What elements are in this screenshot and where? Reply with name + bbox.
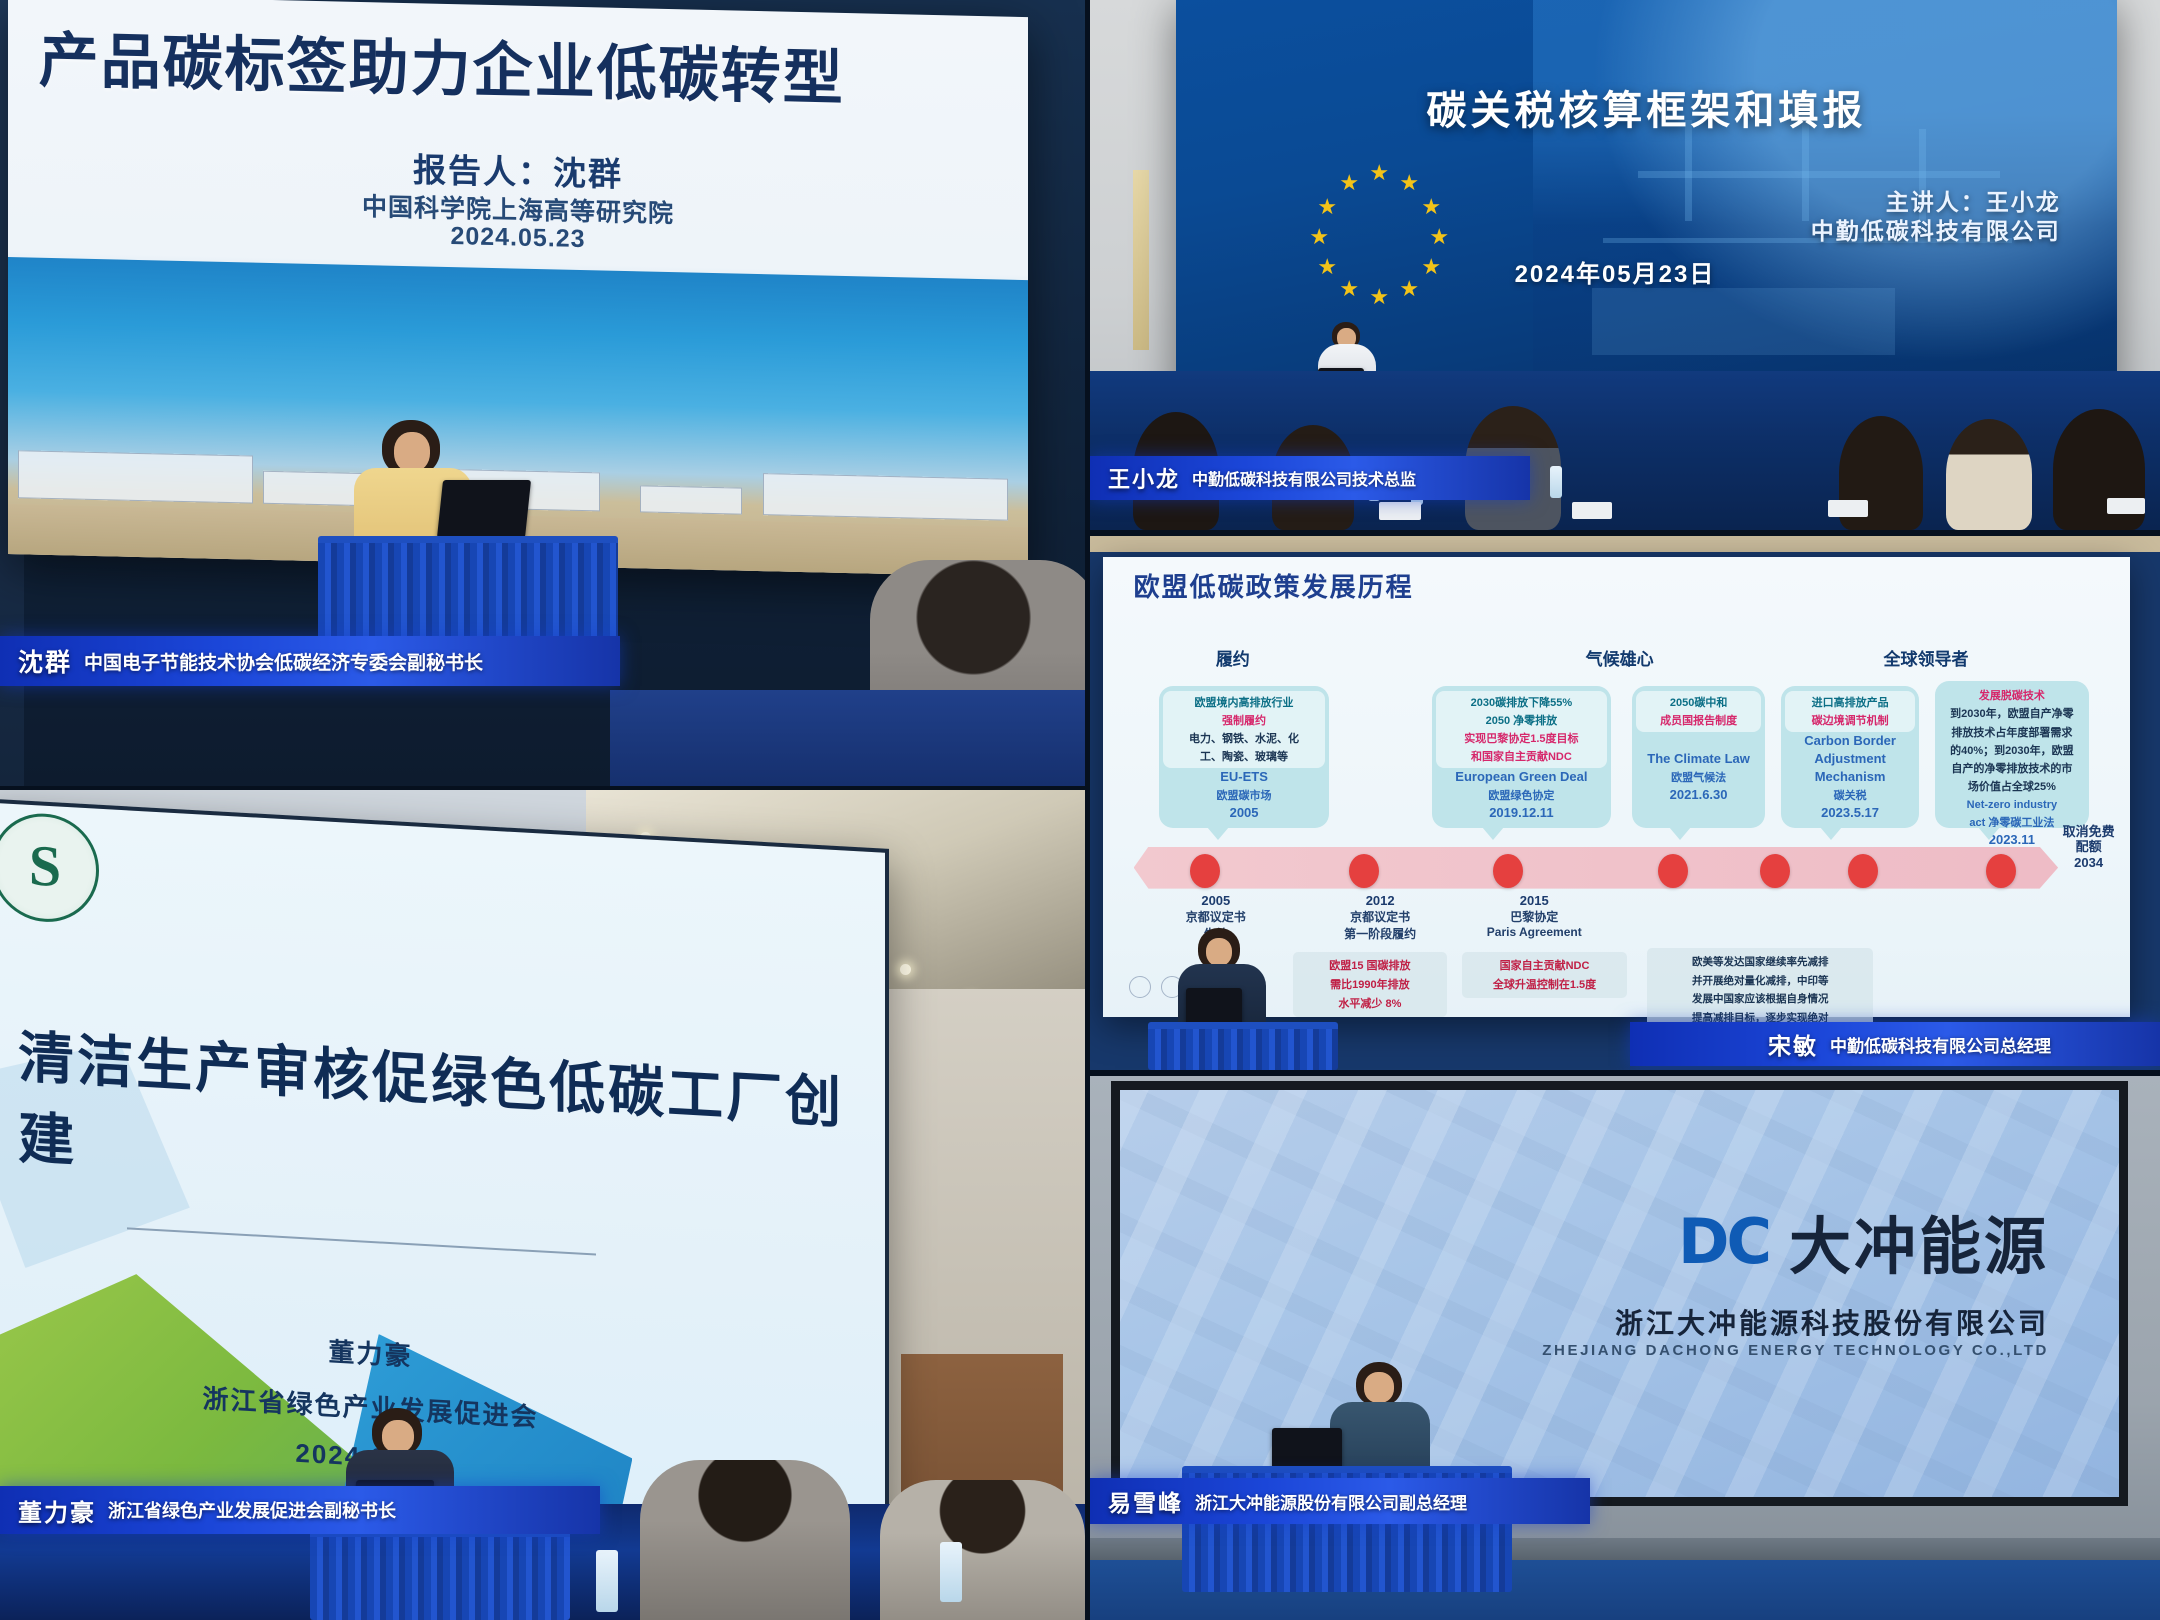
- slide-title: 欧盟低碳政策发展历程: [1134, 567, 1414, 604]
- campus-building: [763, 473, 1008, 520]
- speaker-table: [1148, 1022, 1338, 1070]
- policy-bubble-green-deal: 2030碳排放下降55% 2050 净零排放 实现巴黎协定1.5度目标 和国家自…: [1432, 686, 1612, 828]
- campus-building: [18, 450, 253, 503]
- timeline-note-2: 国家自主贡献NDC 全球升温控制在1.5度: [1462, 952, 1626, 998]
- timeline-dot: [1493, 854, 1523, 888]
- slide-title: 碳关税核算框架和填报: [1176, 78, 2118, 136]
- company-name-en: ZHEJIANG DACHONG ENERGY TECHNOLOGY CO.,L…: [1542, 1342, 2049, 1359]
- group-label-1: 履约: [1216, 645, 1250, 670]
- caption-speaker-name: 沈群: [18, 643, 72, 679]
- timeline-right-note: 取消免费 配额 2034: [2063, 824, 2115, 871]
- policy-bubble-eu-ets: 欧盟境内高排放行业 强制履约 电力、钢铁、水泥、化 工、陶瓷、玻璃等 EU-ET…: [1159, 686, 1328, 828]
- logo-mark-dc: DC: [1678, 1205, 1769, 1278]
- company-logo: DC 大冲能源: [1678, 1196, 2049, 1286]
- caption-bar-panel3: 宋敏 中勤低碳科技有限公司总经理: [1630, 1022, 2160, 1066]
- timeline-year-2015: 2015 巴黎协定 Paris Agreement: [1452, 893, 1616, 939]
- audience-desk: [610, 690, 1085, 786]
- policy-bubble-climate-law: 2050碳中和 成员国报告制度 The Climate Law 欧盟气候法 20…: [1632, 686, 1766, 828]
- policy-bubble-cbam: 进口高排放产品 碳边境调节机制 Carbon Border Adjustment…: [1781, 686, 1920, 828]
- audience-row: [1090, 371, 2160, 530]
- prev-icon[interactable]: [1129, 976, 1151, 998]
- caption-speaker-name: 易雪峰: [1108, 1484, 1183, 1518]
- wall-stripe: [1133, 170, 1149, 350]
- caption-speaker-name: 王小龙: [1108, 462, 1180, 494]
- timeline-dot: [1848, 854, 1878, 888]
- slide-divider: [127, 1228, 597, 1256]
- caption-bar-panel1: 沈群 中国电子节能技术协会低碳经济专委会副秘书长: [0, 636, 620, 686]
- timeline-dot: [1986, 854, 2016, 888]
- timeline-note-1: 欧盟15 国碳排放 需比1990年排放 水平减少 8%: [1293, 952, 1447, 1017]
- caption-speaker-role: 中国电子节能技术协会低碳经济专委会副秘书长: [84, 648, 483, 675]
- speaker-table: [310, 1530, 570, 1620]
- slide-date: 2024年05月23日: [1515, 254, 1716, 289]
- group-label-3: 全球领导者: [1883, 645, 1968, 670]
- audience-member-foreground: [880, 1480, 1085, 1620]
- caption-speaker-role: 浙江省绿色产业发展促进会副秘书长: [108, 1497, 396, 1523]
- timeline-year-2012: 2012 京都议定书 第一阶段履约: [1298, 893, 1462, 942]
- caption-bar-panel5: 易雪峰 浙江大冲能源股份有限公司副总经理: [1090, 1478, 1590, 1524]
- campus-building: [640, 485, 742, 514]
- caption-speaker-role: 中勤低碳科技有限公司总经理: [1830, 1032, 2051, 1057]
- timeline-dot: [1658, 854, 1688, 888]
- timeline-dot: [1190, 854, 1220, 888]
- water-bottle: [596, 1550, 618, 1612]
- panel-eu-policy-timeline: 欧盟低碳政策发展历程 履约 气候雄心 全球领导者 欧盟境内高排放行业 强制履约 …: [1090, 536, 2160, 1070]
- audience-member-foreground: [640, 1460, 850, 1620]
- association-logo: S: [0, 811, 99, 925]
- caption-speaker-name: 董力豪: [18, 1493, 96, 1528]
- caption-speaker-role: 浙江大冲能源股份有限公司副总经理: [1195, 1489, 1467, 1514]
- caption-bar-panel4: 董力豪 浙江省绿色产业发展促进会副秘书长: [0, 1486, 600, 1534]
- slide-company: 中勤低碳科技有限公司: [1811, 212, 2061, 246]
- company-name-cn: 浙江大冲能源科技股份有限公司: [1615, 1302, 2049, 1342]
- slide-title: 产品碳标签助力企业低碳转型: [39, 11, 1008, 120]
- laptop: [1186, 988, 1242, 1026]
- caption-speaker-name: 宋敏: [1768, 1027, 1818, 1061]
- eu-flag-stars: ★ ★ ★ ★ ★ ★ ★ ★ ★ ★ ★ ★: [1307, 162, 1447, 302]
- timeline-dot: [1349, 854, 1379, 888]
- logo-text-cn: 大冲能源: [1789, 1196, 2049, 1286]
- timeline-arrow: [1134, 847, 2058, 889]
- panel-dachong-energy: DC 大冲能源 浙江大冲能源科技股份有限公司 ZHEJIANG DACHONG …: [1090, 1076, 2160, 1620]
- panel-product-carbon-label: 产品碳标签助力企业低碳转型 报告人：沈群 中国科学院上海高等研究院 2024.0…: [0, 0, 1085, 786]
- panel-carbon-border-tax: 碳关税核算框架和填报 ★ ★ ★ ★ ★ ★ ★ ★ ★ ★ ★ ★ 主讲人：王…: [1090, 0, 2160, 530]
- projection-screen-5: DC 大冲能源 浙江大冲能源科技股份有限公司 ZHEJIANG DACHONG …: [1111, 1081, 2128, 1505]
- water-bottle: [940, 1542, 962, 1602]
- photo-collage: 产品碳标签助力企业低碳转型 报告人：沈群 中国科学院上海高等研究院 2024.0…: [0, 0, 2160, 1620]
- aerial-factory-photo: [1120, 1090, 2119, 1496]
- group-label-2: 气候雄心: [1586, 645, 1654, 670]
- policy-bubble-net-zero-industry-act: 发展脱碳技术 到2030年，欧盟自产净零 排放技术占年度部署需求 的40%；到2…: [1935, 681, 2089, 828]
- panel-clean-production: S 清洁生产审核促绿色低碳工厂创建 董力豪 浙江省绿色产业发展促进会 2024.…: [0, 790, 1085, 1620]
- timeline-dot: [1760, 854, 1790, 888]
- caption-bar-panel2: 王小龙 中勤低碳科技有限公司技术总监: [1090, 456, 1530, 500]
- caption-speaker-role: 中勤低碳科技有限公司技术总监: [1192, 466, 1416, 490]
- laptop: [437, 480, 531, 538]
